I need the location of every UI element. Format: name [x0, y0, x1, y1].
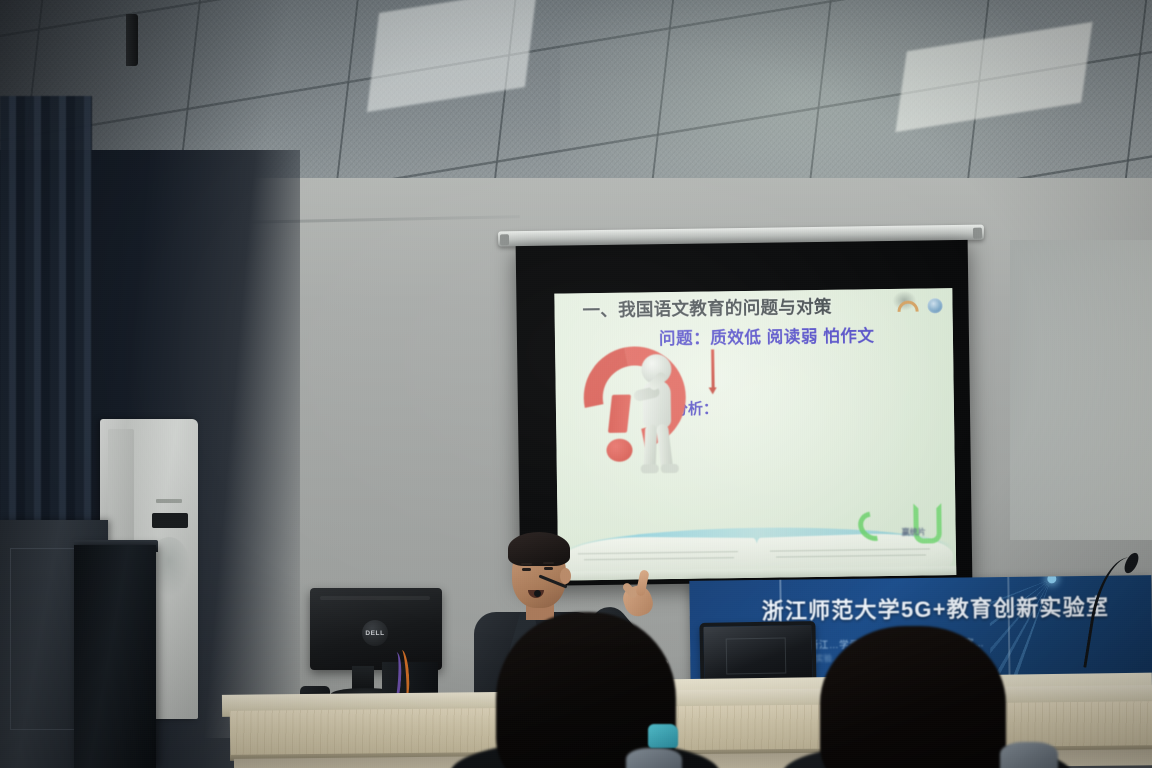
- housing-end-cap: [500, 234, 509, 245]
- dell-logo: DELL: [362, 620, 388, 646]
- housing-end-cap: [973, 228, 982, 239]
- thinking-person-figure: [629, 354, 685, 475]
- figure-leg: [656, 424, 673, 469]
- book-watermark-label: 赢统片: [902, 526, 926, 537]
- audience-member-front-right: [820, 626, 1006, 768]
- lab-banner-title: 浙江师范大学5G+教育创新实验室: [761, 590, 1109, 626]
- wall-right-panel: [1010, 240, 1152, 540]
- audience-collar: [1000, 742, 1058, 768]
- teal-object: [648, 724, 678, 748]
- presenter-ear: [560, 568, 571, 584]
- figure-foot: [661, 464, 679, 473]
- air-conditioner-display-panel[interactable]: [152, 513, 188, 528]
- presenter-eye: [522, 568, 531, 571]
- question-mark-dot: [606, 439, 632, 462]
- slide-corner-icons: [897, 298, 942, 314]
- chair-back-inner: [726, 638, 787, 675]
- figure-foot: [641, 464, 659, 473]
- blue-circle-icon: [927, 298, 942, 313]
- red-down-arrow-icon: [711, 349, 715, 389]
- audience-collar: [626, 748, 682, 768]
- equipment-cabinet: [74, 545, 156, 768]
- headset-microphone-tip: [534, 590, 541, 597]
- presenter-eyebrow: [521, 563, 532, 565]
- presenter-hair: [508, 532, 570, 566]
- dell-monitor-rear[interactable]: DELL: [310, 588, 442, 670]
- presenter-eye: [544, 567, 553, 570]
- slide-subtitle: 问题：质效低 阅读弱 怕作文: [659, 322, 875, 349]
- slide-title: 一、我国语文教育的问题与对策: [582, 297, 872, 320]
- monitor-side-panel: [126, 14, 138, 66]
- rainbow-arc-icon: [897, 301, 918, 312]
- figure-leg: [644, 424, 658, 468]
- monitor-ridge: [320, 596, 430, 600]
- air-conditioner-logo: [156, 499, 182, 503]
- classroom-photo-scene: 一、我国语文教育的问题与对策 问题：质效低 阅读弱 怕作文 分析：: [0, 0, 1152, 768]
- dell-logo-text: DELL: [365, 630, 384, 637]
- presenter-eyebrow: [543, 562, 554, 564]
